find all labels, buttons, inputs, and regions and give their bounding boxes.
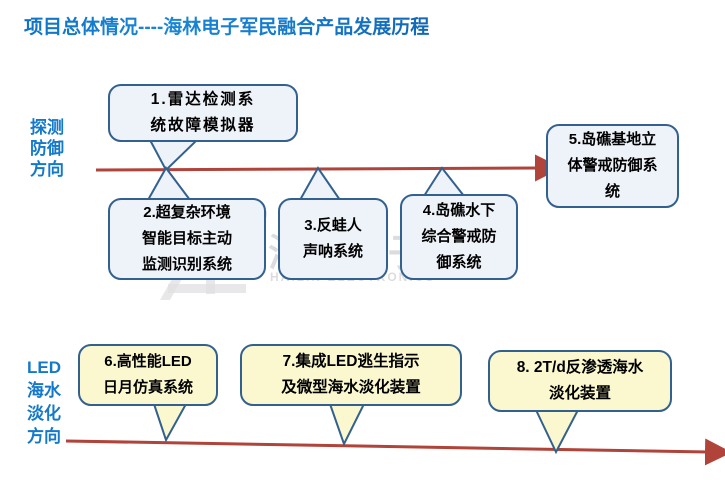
track-label-detection: 探测 防御 方向 bbox=[14, 117, 80, 180]
product-box-1[interactable]: 1.雷达检测系 统故障模拟器 bbox=[108, 84, 298, 142]
page-title: 项目总体情况----海林电子军民融合产品发展历程 bbox=[24, 12, 429, 39]
product-box-4[interactable]: 4.岛礁水下 综合警戒防 御系统 bbox=[400, 194, 518, 280]
product-box-5[interactable]: 5.岛礁基地立 体警戒防御系 统 bbox=[546, 124, 679, 208]
product-box-7[interactable]: 7.集成LED逃生指示 及微型海水淡化装置 bbox=[240, 344, 462, 406]
product-box-3[interactable]: 3.反蛙人 声呐系统 bbox=[278, 198, 388, 280]
track-label-led: LED 海水 淡化 方向 bbox=[8, 356, 80, 448]
product-box-6[interactable]: 6.高性能LED 日月仿真系统 bbox=[78, 344, 218, 406]
product-box-2[interactable]: 2.超复杂环境 智能目标主动 监测识别系统 bbox=[108, 198, 266, 280]
detection-direction-arrow bbox=[96, 168, 538, 170]
product-box-8[interactable]: 8. 2T/d反渗透海水 淡化装置 bbox=[488, 350, 672, 412]
led-direction-arrow bbox=[66, 441, 708, 452]
slide-canvas: 项目总体情况----海林电子军民融合产品发展历程 R 海林电子 HAILIN E… bbox=[0, 0, 725, 486]
